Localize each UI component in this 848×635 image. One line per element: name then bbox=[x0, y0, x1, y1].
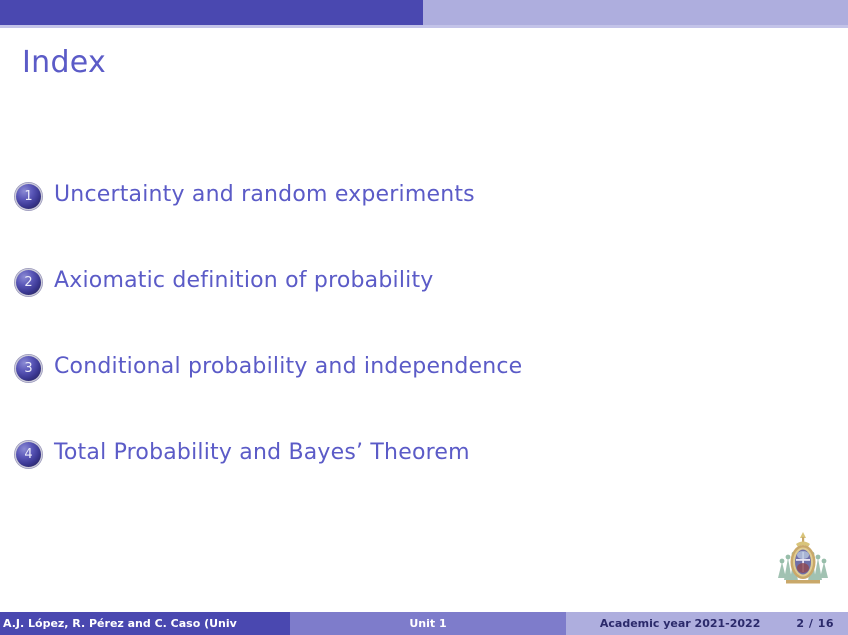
presentation-slide: Index 1 Uncertainty and random experimen… bbox=[0, 0, 848, 635]
footer-bar: A.J. López, R. Pérez and C. Caso (Univ U… bbox=[0, 612, 848, 635]
footer-right: Academic year 2021-2022 2 / 16 bbox=[566, 612, 848, 635]
header-bar bbox=[0, 0, 848, 25]
toc-item-number: 3 bbox=[24, 362, 32, 375]
toc-item-3[interactable]: 3 Conditional probability and independen… bbox=[16, 352, 796, 438]
ball-number-icon: 3 bbox=[16, 356, 41, 381]
toc-item-number: 2 bbox=[24, 276, 32, 289]
toc-item-number: 4 bbox=[24, 448, 32, 461]
footer-page-number: 2 / 16 bbox=[796, 617, 834, 630]
header-bar-dark bbox=[0, 0, 423, 25]
footer-academic-year: Academic year 2021-2022 bbox=[600, 617, 760, 630]
ball-number-icon: 4 bbox=[16, 442, 41, 467]
toc-item-1[interactable]: 1 Uncertainty and random experiments bbox=[16, 180, 796, 266]
toc-item-2[interactable]: 2 Axiomatic definition of probability bbox=[16, 266, 796, 352]
footer-unit: Unit 1 bbox=[290, 612, 566, 635]
page-title: Index bbox=[22, 44, 106, 82]
toc-item-label: Conditional probability and independence bbox=[54, 352, 522, 382]
university-logo-icon bbox=[772, 528, 834, 590]
header-bar-light bbox=[423, 0, 848, 25]
toc-item-number: 1 bbox=[24, 190, 32, 203]
toc-item-label: Total Probability and Bayes’ Theorem bbox=[54, 438, 470, 468]
toc-item-label: Axiomatic definition of probability bbox=[54, 266, 434, 296]
ball-number-icon: 1 bbox=[16, 184, 41, 209]
table-of-contents: 1 Uncertainty and random experiments 2 A… bbox=[16, 180, 796, 524]
toc-item-label: Uncertainty and random experiments bbox=[54, 180, 475, 210]
toc-item-4[interactable]: 4 Total Probability and Bayes’ Theorem bbox=[16, 438, 796, 524]
footer-author: A.J. López, R. Pérez and C. Caso (Univ bbox=[0, 612, 290, 635]
header-underline bbox=[0, 25, 848, 28]
ball-number-icon: 2 bbox=[16, 270, 41, 295]
